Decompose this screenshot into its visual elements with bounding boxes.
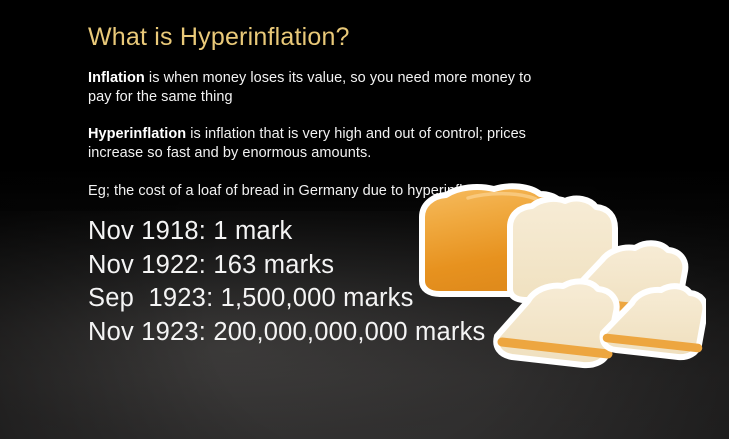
bread-illustration [406, 183, 706, 383]
slide: What is Hyperinflation? Inflation is whe… [0, 0, 729, 439]
paragraph-hyperinflation: Hyperinflation is inflation that is very… [88, 125, 558, 164]
hyperinflation-term: Hyperinflation [88, 126, 186, 142]
paragraph-inflation: Inflation is when money loses its value,… [88, 69, 558, 108]
inflation-term: Inflation [88, 70, 145, 86]
page-title: What is Hyperinflation? [88, 24, 558, 52]
inflation-definition: is when money loses its value, so you ne… [88, 70, 531, 105]
